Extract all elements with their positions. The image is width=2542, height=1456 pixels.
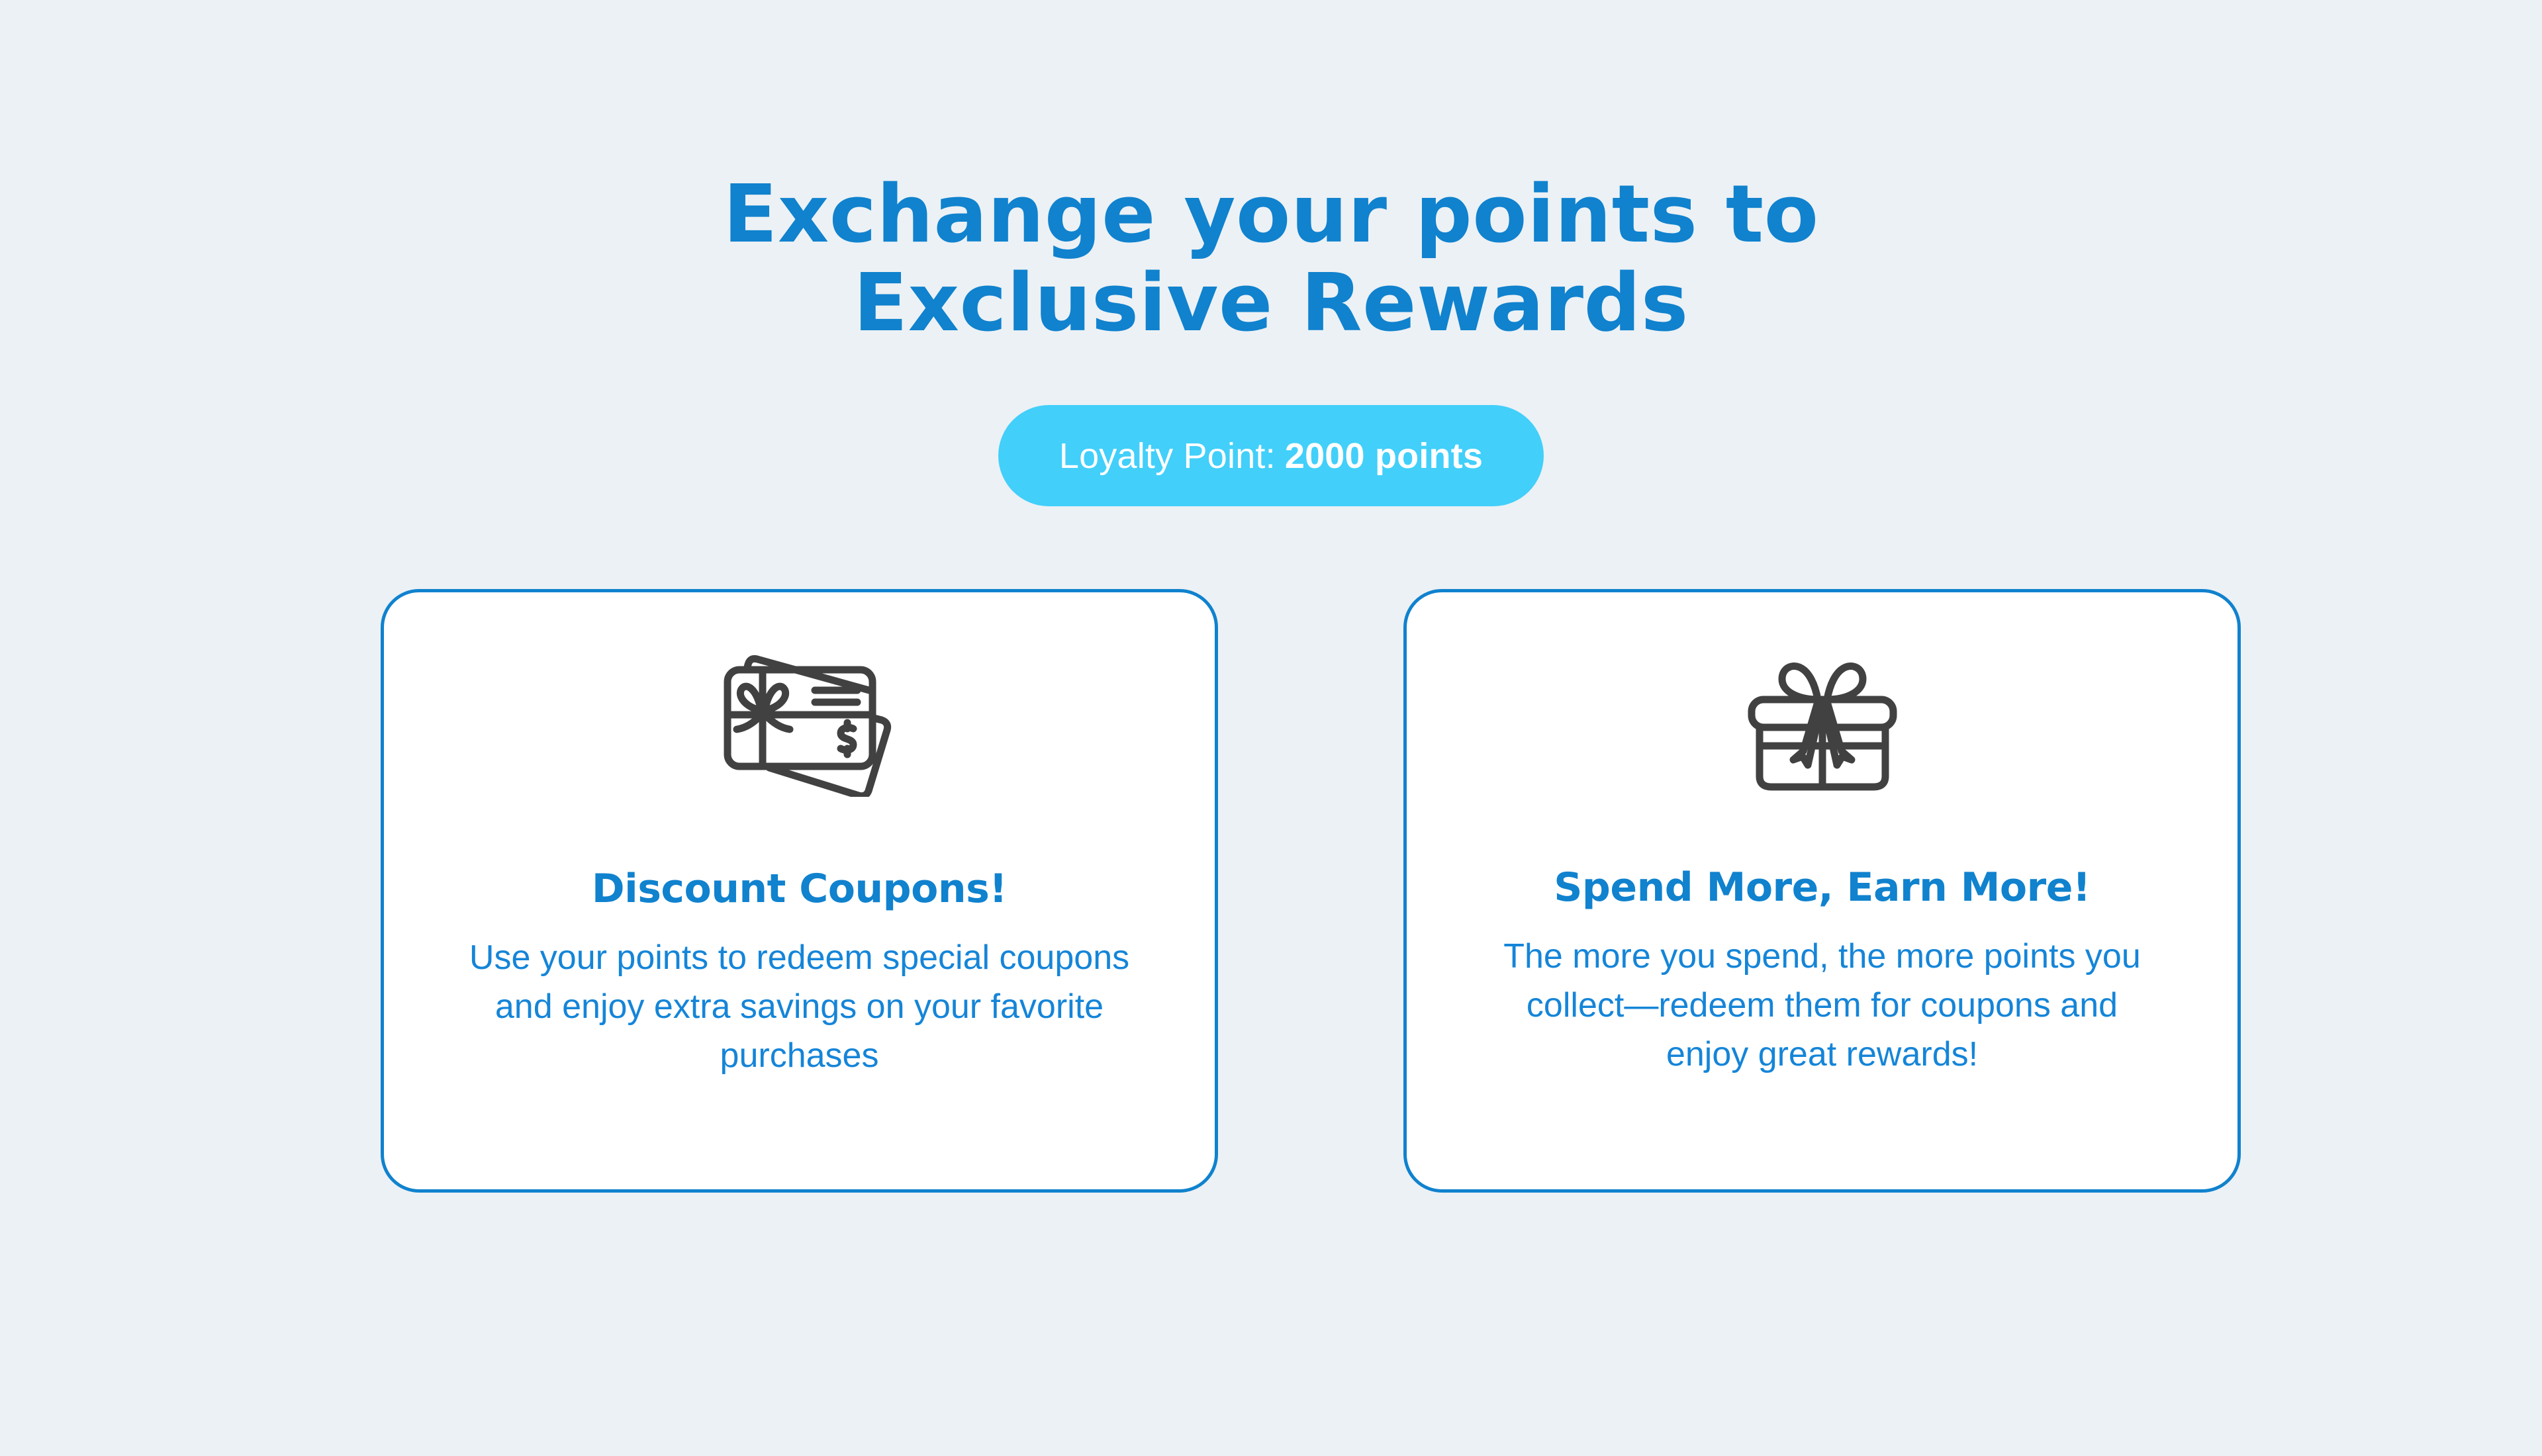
gift-card-coupon-icon — [697, 649, 902, 801]
gift-box-icon — [1720, 649, 1925, 801]
loyalty-point-value: 2000 points — [1285, 435, 1483, 477]
rewards-page: Exchange your points to Exclusive Reward… — [0, 0, 2542, 1456]
page-title: Exchange your points to Exclusive Reward… — [0, 171, 2542, 349]
reward-card-discount-coupons[interactable]: Discount Coupons! Use your points to red… — [381, 589, 1218, 1193]
loyalty-point-label: Loyalty Point: — [1059, 435, 1276, 477]
loyalty-badge-row: Loyalty Point: 2000 points — [0, 405, 2542, 506]
card-title: Discount Coupons! — [592, 869, 1007, 909]
page-title-line-1: Exchange your points to — [0, 171, 2542, 259]
reward-card-spend-more[interactable]: Spend More, Earn More! The more you spen… — [1403, 589, 2241, 1193]
page-title-line-2: Exclusive Rewards — [0, 259, 2542, 348]
card-title: Spend More, Earn More! — [1554, 868, 2091, 907]
card-body: Use your points to redeem special coupon… — [459, 934, 1141, 1080]
loyalty-point-badge[interactable]: Loyalty Point: 2000 points — [998, 405, 1544, 506]
reward-cards: Discount Coupons! Use your points to red… — [381, 589, 2241, 1193]
card-body: The more you spend, the more points you … — [1482, 933, 2163, 1079]
